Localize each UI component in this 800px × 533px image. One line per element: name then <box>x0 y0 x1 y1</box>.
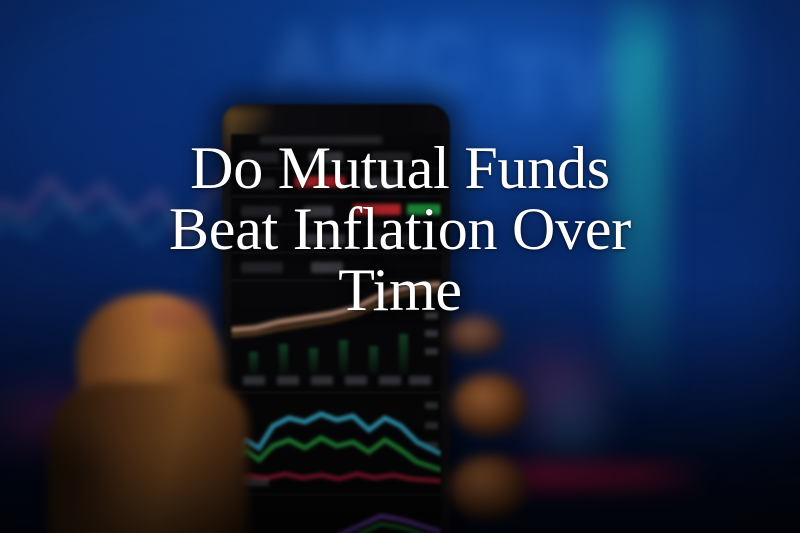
volume-bar <box>369 346 378 374</box>
indicator-pane-divider <box>231 494 441 495</box>
chart-axis-label <box>243 376 265 385</box>
indicator-pane-divider <box>231 392 441 393</box>
volume-bar <box>279 344 288 374</box>
fingertip <box>450 456 526 520</box>
title-line-1: Do Mutual Funds <box>28 138 772 199</box>
indicator-chart-secondary-icon <box>231 502 441 533</box>
chart-axis-label <box>409 376 431 385</box>
background-ticker-amc: AMC <box>268 10 479 109</box>
chart-scale-tick <box>425 348 438 355</box>
chart-axis-label <box>277 376 299 385</box>
chart-axis-label <box>379 376 401 385</box>
page-title: Do Mutual Funds Beat Inflation Over Time <box>0 138 800 321</box>
chart-scale-tick <box>425 330 438 337</box>
volume-bar <box>309 348 318 374</box>
title-line-3: Time <box>28 260 772 321</box>
volume-bar <box>249 352 258 374</box>
hero-banner: AMC TW <box>0 0 800 533</box>
title-line-2: Beat Inflation Over <box>28 199 772 260</box>
chart-axis-label <box>311 376 333 385</box>
chart-axis-label <box>345 376 367 385</box>
fingertip <box>452 374 526 436</box>
indicator-label <box>241 478 269 486</box>
background-amber-bokeh <box>84 398 224 518</box>
